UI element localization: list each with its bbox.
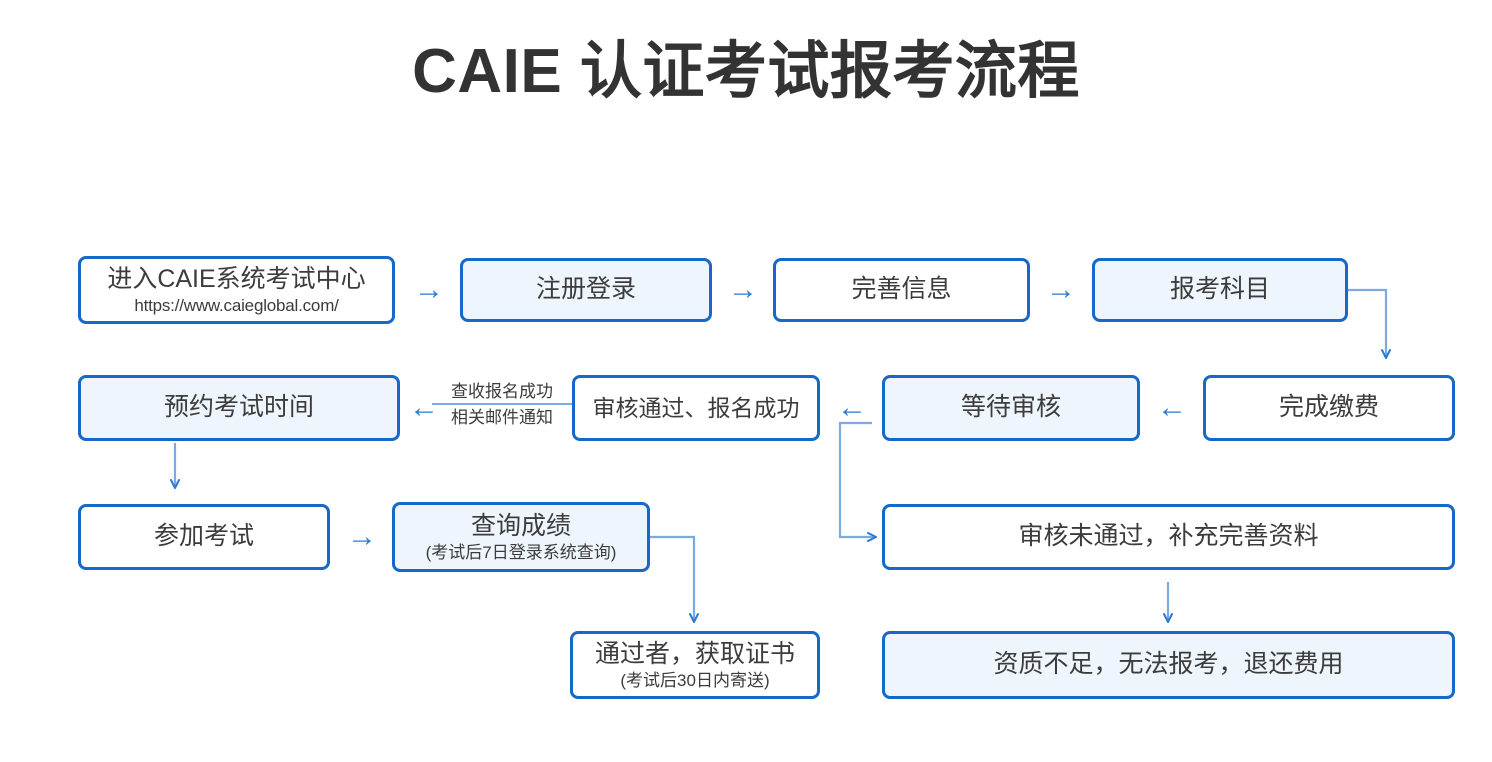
arrow-info-to-subject: → [1032,272,1090,308]
node-review-failed-title: 审核未通过，补充完善资料 [1018,521,1318,552]
edge-label-mail-notice-line2: 相关邮件通知 [432,405,572,428]
node-register-login-title: 注册登录 [536,274,636,305]
node-review-passed-title: 审核通过、报名成功 [593,394,800,423]
node-select-subject[interactable]: 报考科目 [1092,258,1348,322]
node-check-score[interactable]: 查询成绩 (考试后7日登录系统查询) [392,502,650,572]
node-register-login[interactable]: 注册登录 [460,258,712,322]
node-select-subject-title: 报考科目 [1170,274,1270,305]
arrow-await-to-passed: ← [826,390,878,426]
node-enter-system[interactable]: 进入CAIE系统考试中心 https://www.caieglobal.com/ [78,256,395,324]
node-check-score-title: 查询成绩 [471,511,571,542]
node-complete-payment-title: 完成缴费 [1279,392,1379,423]
node-enter-system-title: 进入CAIE系统考试中心 [107,264,365,295]
node-get-certificate[interactable]: 通过者，获取证书 (考试后30日内寄送) [570,631,820,699]
node-book-exam-time-title: 预约考试时间 [164,392,314,423]
edge-label-mail-notice: 查收报名成功 相关邮件通知 [432,381,572,437]
arrow-exam-to-score: → [334,519,390,555]
arrow-enter-to-register: → [400,272,458,308]
connector-review-branch-failed [840,423,876,537]
node-book-exam-time[interactable]: 预约考试时间 [78,375,400,441]
node-get-certificate-title: 通过者，获取证书 [595,639,795,670]
node-check-score-subtitle: (考试后7日登录系统查询) [426,543,617,563]
arrow-register-to-info: → [714,272,772,308]
flowchart-canvas: CAIE 认证考试报考流程 进入CAIE系统考试中心 https://www.c… [0,0,1492,762]
node-take-exam[interactable]: 参加考试 [78,504,330,570]
node-await-review[interactable]: 等待审核 [882,375,1140,441]
node-take-exam-title: 参加考试 [154,521,254,552]
node-complete-payment[interactable]: 完成缴费 [1203,375,1455,441]
node-complete-info[interactable]: 完善信息 [773,258,1030,322]
connector-subject-to-payment [1348,290,1386,358]
node-complete-info-title: 完善信息 [851,274,951,305]
node-await-review-title: 等待审核 [961,392,1061,423]
arrow-payment-to-await: ← [1144,390,1200,426]
page-title: CAIE 认证考试报考流程 [0,38,1492,106]
node-not-qualified[interactable]: 资质不足，无法报考，退还费用 [882,631,1455,699]
node-not-qualified-title: 资质不足，无法报考，退还费用 [993,649,1343,680]
node-enter-system-url: https://www.caieglobal.com/ [134,296,338,316]
edge-label-mail-notice-line1: 查收报名成功 [432,381,572,405]
connector-score-to-certificate [650,537,694,622]
node-review-failed[interactable]: 审核未通过，补充完善资料 [882,504,1455,570]
node-review-passed[interactable]: 审核通过、报名成功 [572,375,820,441]
node-get-certificate-subtitle: (考试后30日内寄送) [620,671,769,691]
